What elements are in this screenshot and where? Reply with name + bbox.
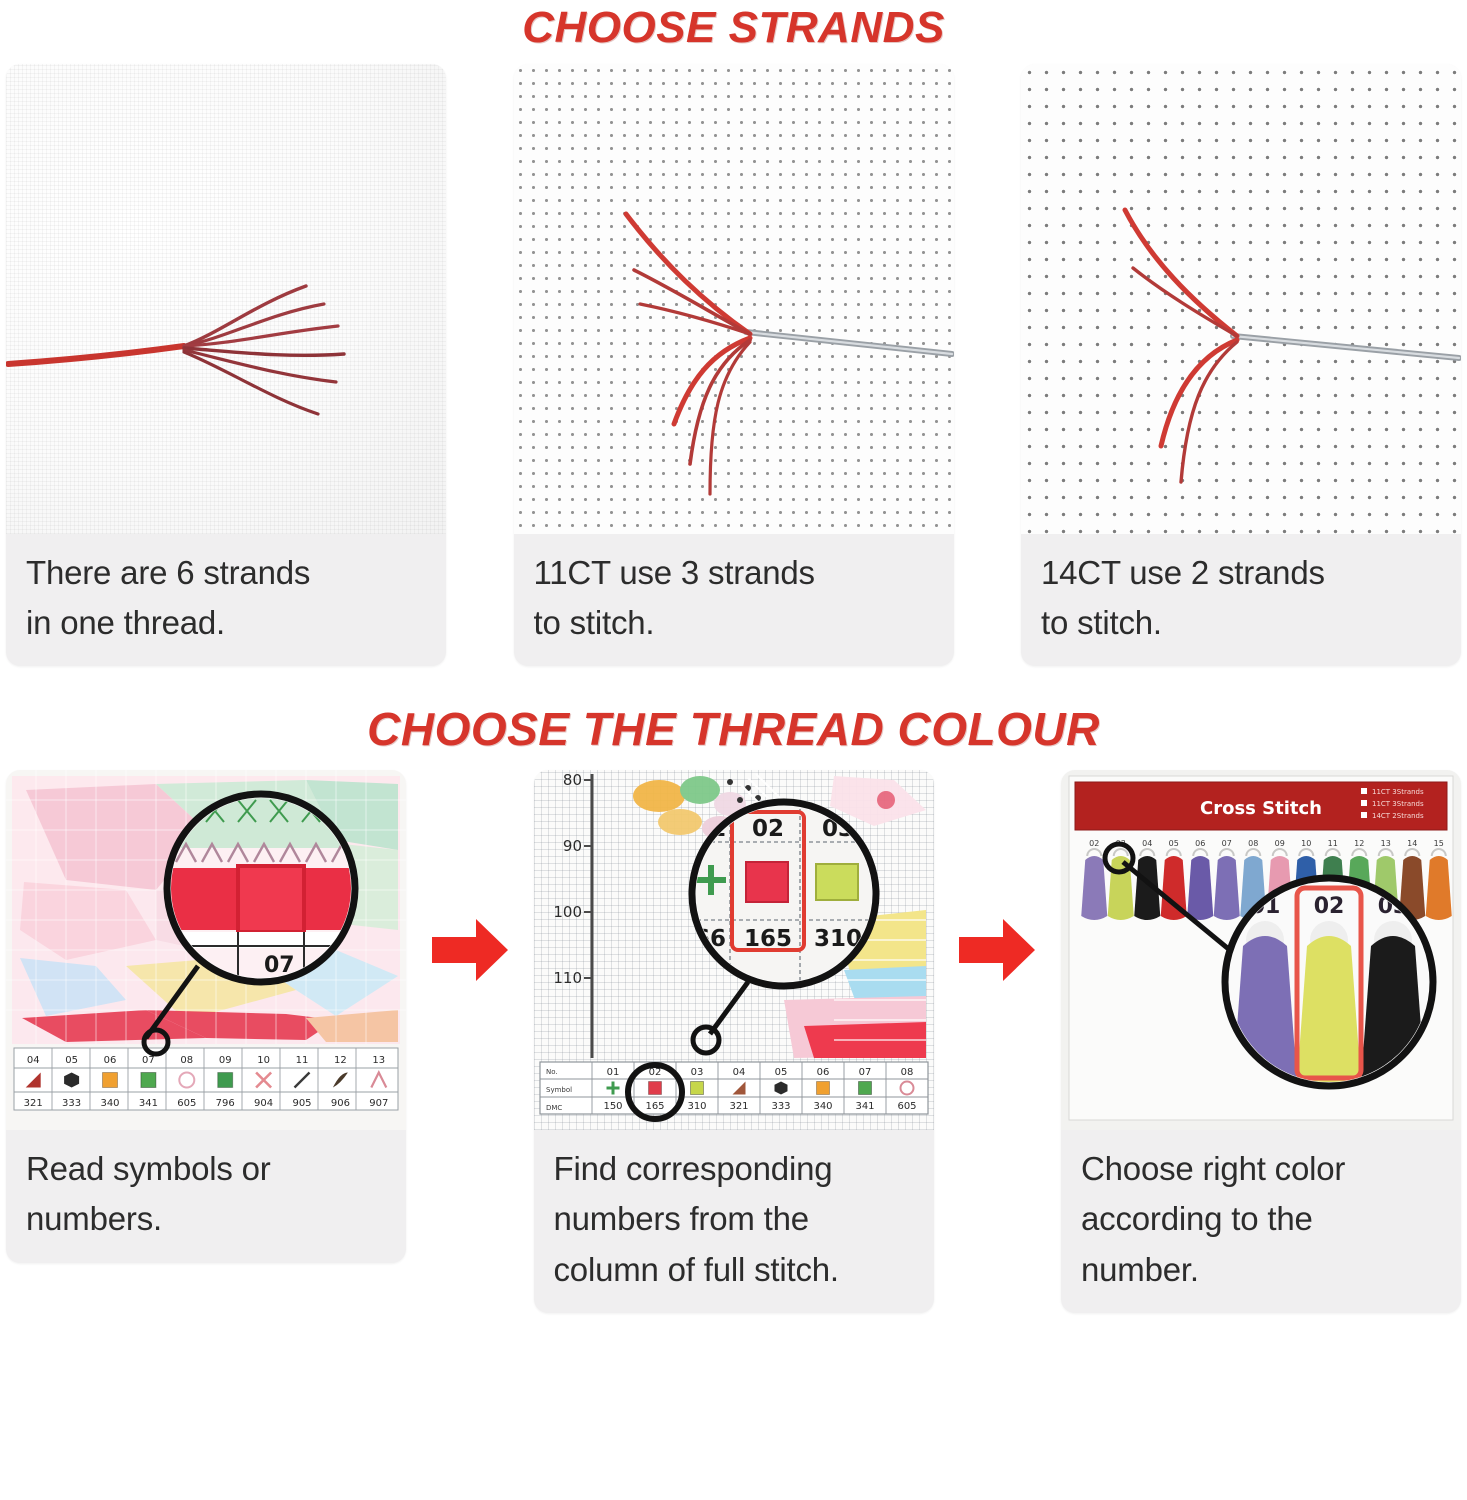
legend-number: 04 <box>27 1055 40 1066</box>
legend-code: 605 <box>177 1098 196 1109</box>
page-title-choose-thread-colour: CHOOSE THE THREAD COLOUR <box>0 700 1467 752</box>
legend-number: 10 <box>257 1055 270 1066</box>
pink-caret-icon <box>371 1073 386 1088</box>
legend-number: 05 <box>774 1067 787 1078</box>
legend-row-label: DMC <box>546 1104 562 1112</box>
caption-line-1: 11CT use 3 strands <box>534 548 934 598</box>
thread-skein <box>1081 856 1107 920</box>
caption-line-1: Find corresponding <box>554 1144 914 1194</box>
card-option-label: 11CT 3Strands <box>1372 788 1424 796</box>
dark-leaf-icon <box>333 1073 348 1088</box>
thread-fan-6-strands-graphic <box>6 64 446 534</box>
checkbox-icon[interactable] <box>1361 788 1367 794</box>
pink-cross-icon <box>256 1073 271 1088</box>
legend-number: 08 <box>900 1067 913 1078</box>
legend-code: 340 <box>813 1101 832 1112</box>
legend-number: 02 <box>648 1067 661 1078</box>
colour-steps-row: 07 04050607080910111213 3213333403416057… <box>0 770 1467 1312</box>
caption-line-1: Read symbols or <box>26 1144 386 1194</box>
card-find-numbers: 8090100110 <box>534 770 934 1312</box>
thread-number: 10 <box>1301 839 1311 848</box>
right-arrow-icon <box>959 917 1035 983</box>
legend-code: 341 <box>139 1098 158 1109</box>
legend-code: 310 <box>687 1101 706 1112</box>
thread-number: 02 <box>1089 839 1099 848</box>
thread-number: 05 <box>1169 839 1179 848</box>
axis-tick-label: 110 <box>553 969 582 987</box>
legend-code: 907 <box>369 1098 388 1109</box>
legend-number: 07 <box>142 1055 155 1066</box>
filled-triangle-icon <box>26 1073 41 1088</box>
caption-six-strands: There are 6 strands in one thread. <box>6 534 446 666</box>
legend-code: 904 <box>254 1098 273 1109</box>
thread-number: 14 <box>1407 839 1417 848</box>
card-option-label: 14CT 2Strands <box>1372 812 1424 820</box>
green-filled-square-icon <box>218 1073 233 1088</box>
legend-number: 11 <box>296 1055 309 1066</box>
caption-line-2: to stitch. <box>534 598 934 648</box>
card-six-strands: There are 6 strands in one thread. <box>6 64 446 666</box>
thread-number: 07 <box>1222 839 1232 848</box>
caption-find-numbers: Find corresponding numbers from the colu… <box>534 1130 934 1312</box>
legend-code: 340 <box>100 1098 119 1109</box>
card-11ct-three-strands: 11CT use 3 strands to stitch. <box>514 64 954 666</box>
photo-14ct-strands <box>1021 64 1461 534</box>
legend-code: 796 <box>216 1098 235 1109</box>
thread-number-magnified: 02 <box>1314 894 1345 919</box>
thread-skein-magnified <box>1297 936 1361 1090</box>
photo-thread-card: Cross Stitch 11CT 3Strands11CT 3Strands1… <box>1061 770 1461 1130</box>
thread-number: 08 <box>1248 839 1258 848</box>
caption-line-2: numbers. <box>26 1194 386 1244</box>
caption-line-3: number. <box>1081 1245 1441 1295</box>
caption-14ct-strands: 14CT use 2 strands to stitch. <box>1021 534 1461 666</box>
legend-code: 321 <box>24 1098 43 1109</box>
page-title-choose-strands: CHOOSE STRANDS <box>0 0 1467 50</box>
thread-and-needle-graphic-14ct <box>1021 64 1461 534</box>
black-hexagon-icon <box>64 1073 79 1088</box>
legend-code: 906 <box>331 1098 350 1109</box>
svg-text:Cross Stitch: Cross Stitch <box>1200 798 1322 819</box>
legend-code: 341 <box>855 1101 874 1112</box>
caption-line-2: to stitch. <box>1041 598 1441 648</box>
caption-line-2: numbers from the <box>554 1194 914 1244</box>
thread-number: 04 <box>1142 839 1152 848</box>
caption-line-1: 14CT use 2 strands <box>1041 548 1441 598</box>
black-slash-icon <box>295 1073 310 1088</box>
legend-code: 150 <box>603 1101 622 1112</box>
thread-skein <box>1426 856 1452 920</box>
axis-tick-label: 100 <box>553 903 582 921</box>
legend-row-label: No. <box>546 1068 558 1076</box>
caption-line-1: There are 6 strands <box>26 548 426 598</box>
svg-text:165: 165 <box>743 926 791 952</box>
caption-line-2: in one thread. <box>26 598 426 648</box>
caption-choose-color: Choose right color according to the numb… <box>1061 1130 1461 1312</box>
orange-square-icon <box>103 1073 118 1088</box>
photo-11ct-strands <box>514 64 954 534</box>
card-option-label: 11CT 3Strands <box>1372 800 1424 808</box>
photo-grid-chart: 8090100110 <box>534 770 934 1130</box>
legend-number: 06 <box>816 1067 829 1078</box>
legend-number: 13 <box>372 1055 385 1066</box>
photo-six-strands <box>6 64 446 534</box>
thread-and-needle-graphic-11ct <box>514 64 954 534</box>
thread-skein <box>1214 856 1240 920</box>
legend-strip: No.SymbolDMC 0102030405060708 1501653103… <box>540 1062 928 1119</box>
legend-number: 04 <box>732 1067 745 1078</box>
card-read-symbols: 07 04050607080910111213 3213333403416057… <box>6 770 406 1262</box>
svg-text:02: 02 <box>751 816 783 842</box>
thread-number: 06 <box>1195 839 1205 848</box>
legend-code: 321 <box>729 1101 748 1112</box>
legend-number: 09 <box>219 1055 232 1066</box>
yellow-green-square-icon <box>690 1082 703 1095</box>
orange-square-icon <box>816 1082 829 1095</box>
caption-read-symbols: Read symbols or numbers. <box>6 1130 406 1262</box>
thread-number: 15 <box>1434 839 1444 848</box>
caption-line-3: column of full stitch. <box>554 1245 914 1295</box>
legend-number: 03 <box>690 1067 703 1078</box>
axis-tick-label: 80 <box>562 771 581 789</box>
legend-code: 333 <box>771 1101 790 1112</box>
legend-code: 333 <box>62 1098 81 1109</box>
right-arrow-icon <box>432 917 508 983</box>
card-choose-color: Cross Stitch 11CT 3Strands11CT 3Strands1… <box>1061 770 1461 1312</box>
thread-number: 09 <box>1275 839 1285 848</box>
infographic-page: CHOOSE STRANDS <box>0 0 1467 1500</box>
thread-number: 11 <box>1328 839 1338 848</box>
legend-number: 01 <box>606 1067 619 1078</box>
thread-number: 13 <box>1381 839 1391 848</box>
green-square-icon <box>858 1082 871 1095</box>
thread-card-graphic: Cross Stitch 11CT 3Strands11CT 3Strands1… <box>1061 770 1461 1130</box>
photo-pattern-chart: 07 04050607080910111213 3213333403416057… <box>6 770 406 1130</box>
pink-circle-icon <box>179 1073 194 1088</box>
strand-cards-row: There are 6 strands in one thread. <box>0 64 1467 666</box>
thread-skein <box>1187 856 1213 920</box>
legend-row-label: Symbol <box>546 1086 572 1094</box>
legend-labels-overlay: 04050607080910111213 3213333403416057969… <box>6 770 406 1130</box>
legend-number: 08 <box>180 1055 193 1066</box>
legend-code: 605 <box>897 1101 916 1112</box>
caption-line-1: Choose right color <box>1081 1144 1441 1194</box>
grid-chart-graphic: 8090100110 <box>534 770 934 1130</box>
green-square-icon <box>141 1073 156 1088</box>
checkbox-icon[interactable] <box>1361 800 1367 806</box>
caption-11ct-strands: 11CT use 3 strands to stitch. <box>514 534 954 666</box>
legend-number: 12 <box>334 1055 347 1066</box>
axis-tick-label: 90 <box>562 837 581 855</box>
caption-line-2: according to the <box>1081 1194 1441 1244</box>
legend-code: 905 <box>292 1098 311 1109</box>
legend-number: 06 <box>104 1055 117 1066</box>
legend-number: 07 <box>858 1067 871 1078</box>
arrow-step2-step3-wrap <box>951 770 1043 1130</box>
red-filled-square-icon <box>648 1082 661 1095</box>
arrow-step1-step2-wrap <box>424 770 516 1130</box>
card-14ct-two-strands: 14CT use 2 strands to stitch. <box>1021 64 1461 666</box>
checkbox-icon[interactable] <box>1361 812 1367 818</box>
legend-code: 165 <box>645 1101 664 1112</box>
thread-number: 12 <box>1354 839 1364 848</box>
legend-number: 05 <box>65 1055 78 1066</box>
